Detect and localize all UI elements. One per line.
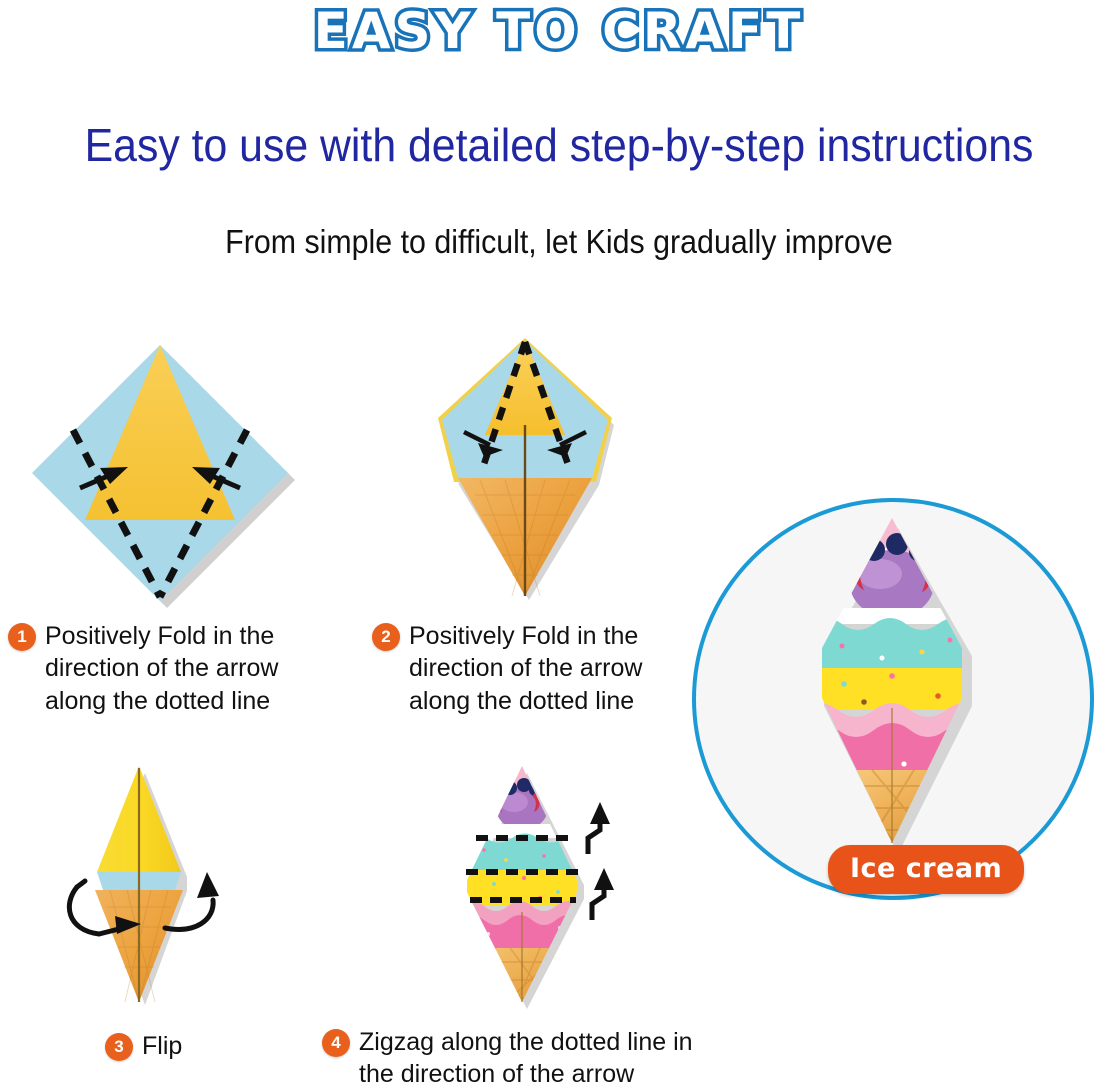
step-3-caption: 3 Flip (105, 1030, 335, 1062)
step-1-text: Positively Fold in the direction of the … (45, 620, 278, 717)
tagline: From simple to difficult, let Kids gradu… (45, 223, 1074, 261)
icecream-print (460, 762, 590, 1017)
page-title: EASY TO CRAFT (0, 2, 1118, 60)
step-4-text: Zigzag along the dotted line in the dire… (359, 1026, 693, 1091)
result-label: Ice cream (828, 845, 1024, 894)
step-1-diagram (0, 325, 320, 615)
step-1-badge: 1 (8, 623, 36, 651)
step-4-caption: 4 Zigzag along the dotted line in the di… (322, 1026, 742, 1091)
step-2-caption: 2 Positively Fold in the direction of th… (372, 620, 692, 717)
step-2-text: Positively Fold in the direction of the … (409, 620, 642, 717)
step-2-badge: 2 (372, 623, 400, 651)
step-4-diagram (440, 752, 660, 1017)
step-1-caption: 1 Positively Fold in the direction of th… (8, 620, 328, 717)
step-2-diagram (420, 330, 630, 615)
poster-root: EASY TO CRAFT Easy to use with detailed … (0, 0, 1118, 1088)
pink-layer-dark (802, 723, 992, 774)
subtitle: Easy to use with detailed step-by-step i… (39, 118, 1079, 172)
result-icecream-art (692, 498, 1094, 900)
step-3-diagram (55, 752, 285, 1017)
zigzag-arrow-upper (588, 802, 610, 854)
step-3-badge: 3 (105, 1033, 133, 1061)
step-3-text: Flip (142, 1030, 182, 1062)
step-4-badge: 4 (322, 1029, 350, 1057)
zigzag-arrow-lower (592, 868, 614, 920)
teal-layer (810, 618, 982, 668)
